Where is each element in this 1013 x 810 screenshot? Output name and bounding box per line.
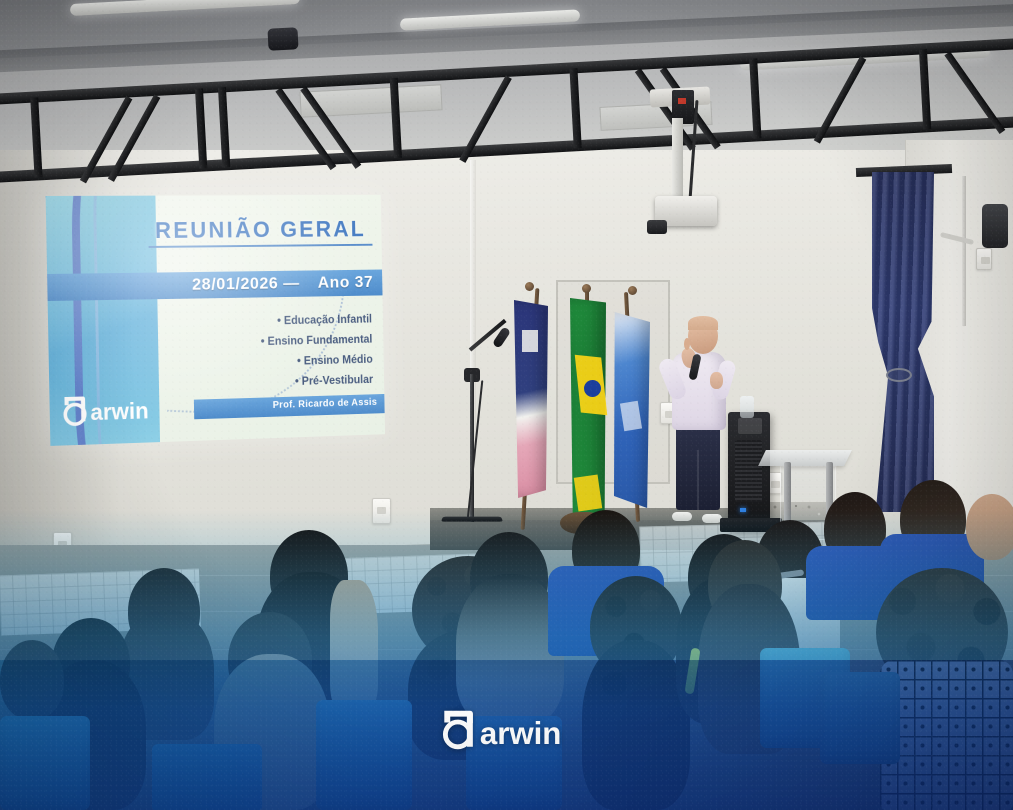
slide-date: 28/01/2026 —	[192, 274, 300, 294]
curtain-tieback	[886, 368, 912, 382]
slide-year-label: Ano 37	[317, 273, 373, 292]
slide-title: REUNIÃO GERAL	[148, 216, 372, 248]
watermark-brand-text: arwin	[480, 716, 562, 751]
auditorium-chair	[0, 716, 90, 810]
water-bottle	[740, 396, 754, 418]
mic-stand-base	[441, 517, 503, 522]
slide-brand-text: arwin	[90, 397, 149, 425]
auditorium-chair	[316, 700, 412, 810]
flagpole-finial	[525, 282, 534, 291]
slide-brand-logo: arwin	[61, 391, 163, 428]
truss-vertical	[919, 49, 931, 129]
flag-brazil-globe	[584, 380, 601, 397]
truss-vertical	[569, 68, 581, 148]
wall-outlet	[976, 248, 992, 270]
slide-bullet-item: Pré-Vestibular	[162, 370, 374, 396]
ceiling-speaker-box	[267, 27, 298, 51]
speaker-leg-seam	[697, 450, 699, 510]
projector-lens	[647, 220, 667, 234]
slide-presenter-name: Prof. Ricardo de Assis	[273, 397, 378, 411]
speaker-right-hand	[710, 372, 723, 389]
audience-blonde-hair	[330, 580, 378, 710]
truss-vertical	[195, 88, 207, 168]
watermark-brand-logo: arwin	[440, 706, 580, 752]
audience-head	[966, 494, 1013, 560]
projector-led	[678, 98, 686, 104]
projector-pole	[672, 118, 683, 206]
pa-top-panel	[738, 418, 762, 434]
audience-hair	[582, 640, 690, 810]
auditorium-photo: REUNIÃO GERAL 28/01/2026 — Ano 37 Educaç…	[0, 0, 1013, 810]
pa-power-led	[740, 508, 746, 512]
flagpole-finial	[582, 284, 591, 293]
projected-slide: REUNIÃO GERAL 28/01/2026 — Ano 37 Educaç…	[46, 195, 385, 446]
pa-speaker-grille	[735, 440, 762, 502]
audience-head	[0, 640, 64, 720]
auditorium-chair	[820, 672, 900, 764]
speaker-ear	[684, 338, 690, 350]
truss-vertical	[749, 58, 761, 138]
speaker-shoe	[702, 514, 722, 523]
flagpole-finial	[628, 286, 637, 295]
flag-brazil-rhombus-lower	[574, 474, 602, 511]
lectern-top	[758, 450, 852, 466]
truss-vertical	[30, 97, 42, 177]
speaker-bald-crown	[688, 316, 718, 330]
slide-bullet-list: Educação Infantil Ensino Fundamental Ens…	[161, 310, 374, 396]
auditorium-chair	[152, 744, 262, 810]
wall-outlet	[372, 498, 391, 524]
speaker-shoe	[672, 512, 692, 521]
wall-speaker	[982, 204, 1008, 248]
truss-vertical	[390, 78, 402, 158]
wall-conduit	[962, 176, 966, 326]
flag-bahia-canton	[522, 330, 538, 352]
truss-vertical	[218, 87, 230, 167]
